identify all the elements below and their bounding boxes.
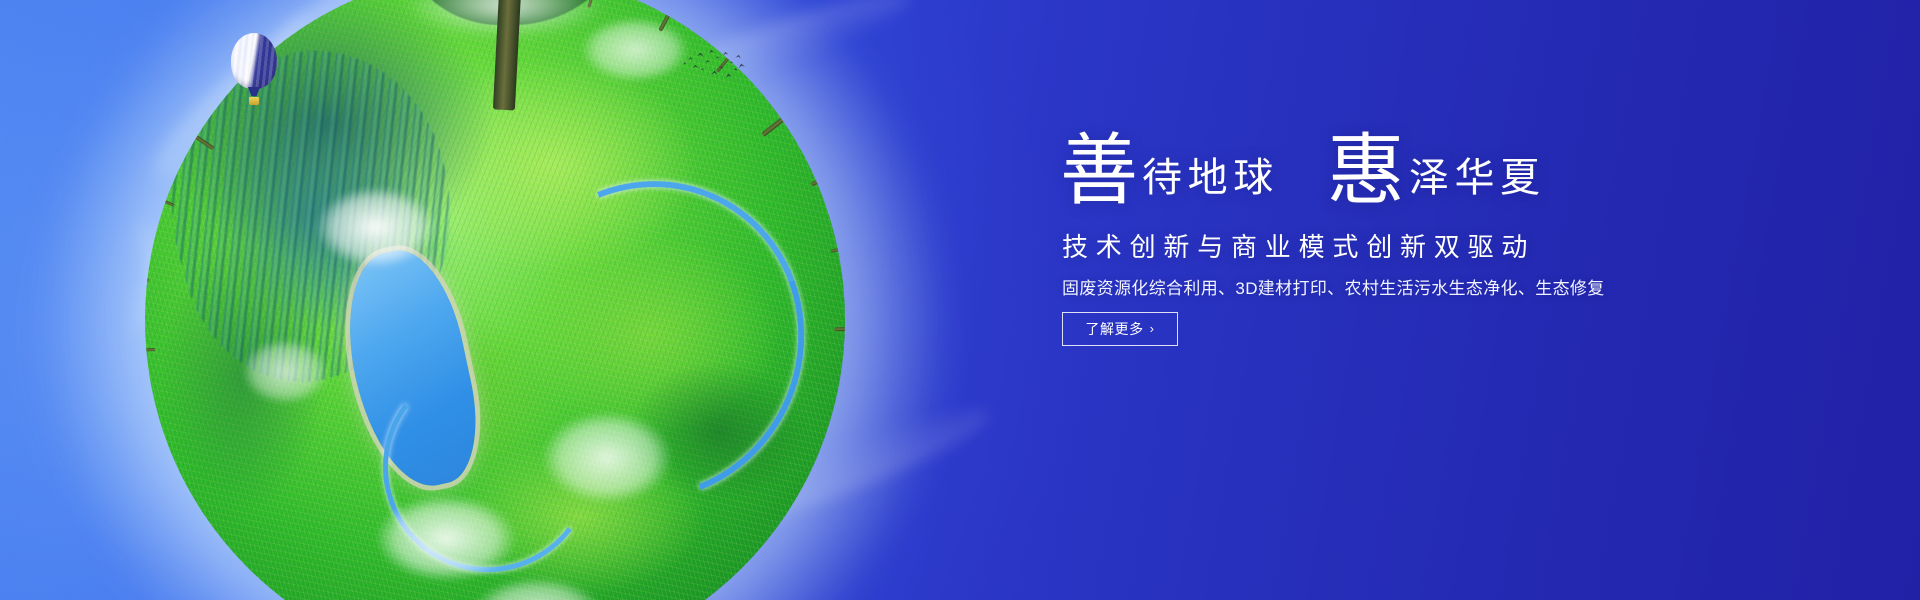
bird-icon: [688, 57, 693, 60]
tree-trunk: [830, 245, 845, 252]
tree-icon: [400, 0, 630, 110]
learn-more-label: 了解更多: [1085, 319, 1143, 339]
tree-trunk: [493, 0, 521, 110]
tree-trunk: [156, 197, 175, 207]
tree-trunk: [815, 472, 845, 488]
learn-more-button[interactable]: 了解更多 ›: [1062, 312, 1178, 346]
balloon-basket: [249, 97, 259, 105]
bird-icon: [709, 50, 715, 54]
bird-icon: [733, 68, 738, 71]
bird-icon: [682, 62, 686, 65]
bird-icon: [700, 68, 704, 71]
hero-copy-block: 善待地球惠泽华夏 技术创新与商业模式创新双驱动 固废资源化综合利用、3D建材打印…: [1060, 0, 1760, 600]
tree-icon: [834, 311, 845, 346]
hero-subtitle: 技术创新与商业模式创新双驱动: [1062, 227, 1535, 264]
bird-icon: [697, 52, 704, 57]
tree-trunk: [835, 326, 845, 331]
tree-trunk: [159, 489, 179, 501]
bird-icon: [722, 51, 728, 56]
balloon-neck: [248, 87, 260, 96]
surface-cloud: [229, 334, 341, 418]
headline-char-primary-2: 惠: [1327, 127, 1405, 214]
bird-flock-icon: [682, 48, 742, 82]
headline-char-primary-1: 善: [1060, 127, 1138, 214]
headline-chars-secondary-2: 泽华夏: [1409, 155, 1546, 200]
tree-trunk: [658, 5, 674, 31]
bird-icon: [735, 54, 741, 59]
bird-icon: [725, 73, 732, 78]
surface-cloud: [523, 404, 691, 523]
tree-trunk: [738, 587, 753, 600]
tree-trunk: [811, 172, 834, 186]
hot-air-balloon-icon: [231, 33, 277, 111]
bird-icon: [719, 66, 724, 70]
headline-chars-secondary-1: 待地球: [1142, 155, 1279, 200]
bird-icon: [716, 56, 720, 59]
bird-icon: [730, 61, 734, 63]
tree-trunk: [776, 527, 798, 543]
bird-icon: [693, 65, 699, 68]
page-title: 善待地球惠泽华夏: [1060, 132, 1546, 210]
surface-cloud: [299, 180, 453, 285]
tree-trunk: [841, 397, 845, 404]
tree-trunk: [145, 348, 155, 352]
tree-trunk: [203, 550, 228, 571]
hero-description: 固废资源化综合利用、3D建材打印、农村生活污水生态净化、生态修复: [1062, 274, 1605, 299]
hero-banner: 善待地球惠泽华夏 技术创新与商业模式创新双驱动 固废资源化综合利用、3D建材打印…: [0, 0, 1920, 600]
bird-icon: [705, 60, 710, 64]
tree-trunk: [145, 273, 149, 282]
tree-trunk: [145, 422, 160, 432]
chevron-right-icon: ›: [1150, 322, 1155, 335]
balloon-envelope: [231, 33, 277, 89]
tree-trunk: [762, 114, 789, 136]
tree-icon: [145, 335, 156, 364]
tree-trunk: [192, 134, 214, 150]
bird-icon: [711, 71, 717, 75]
